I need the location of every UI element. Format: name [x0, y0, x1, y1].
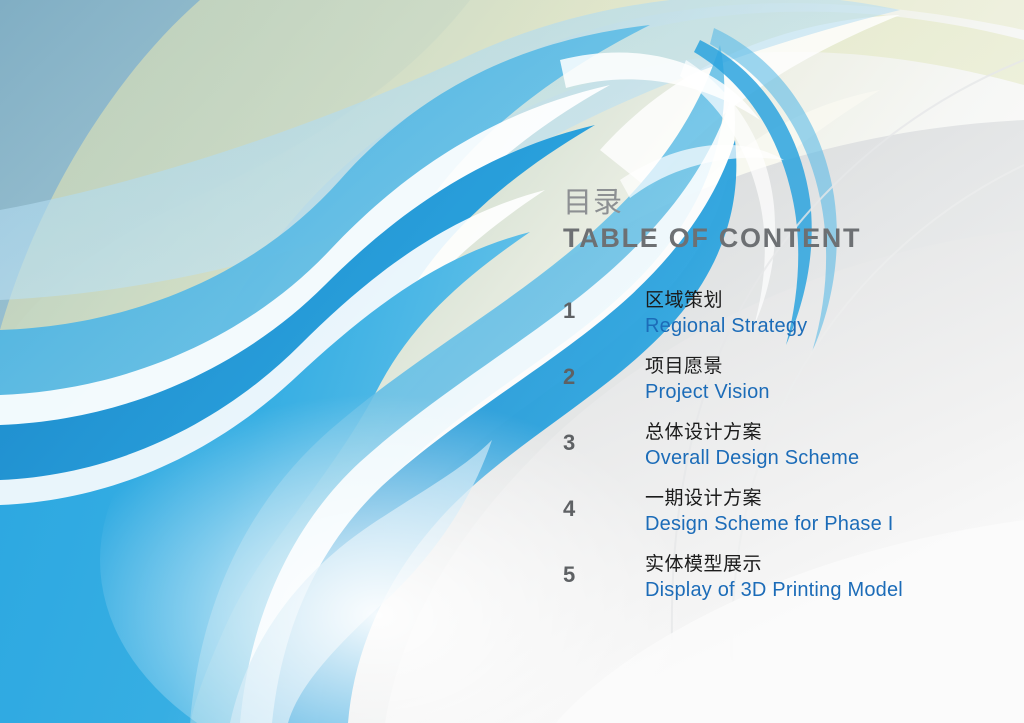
page-title-cn: 目录: [563, 186, 1003, 220]
toc-entry-labels: 总体设计方案 Overall Design Scheme: [645, 420, 859, 471]
toc-entry-5[interactable]: 5 实体模型展示 Display of 3D Printing Model: [563, 552, 1013, 618]
toc-title-cn: 项目愿景: [645, 354, 770, 379]
toc-title-en: Overall Design Scheme: [645, 445, 859, 471]
presentation-slide: 目录 TABLE OF CONTENT 1 区域策划 Regional Stra…: [0, 0, 1024, 723]
toc-list: 1 区域策划 Regional Strategy 2 项目愿景 Project …: [563, 288, 1013, 618]
toc-entry-2[interactable]: 2 项目愿景 Project Vision: [563, 354, 1013, 420]
toc-number: 5: [563, 562, 593, 588]
toc-entry-labels: 区域策划 Regional Strategy: [645, 288, 807, 339]
toc-number: 1: [563, 298, 593, 324]
toc-title-en: Regional Strategy: [645, 313, 807, 339]
toc-entry-3[interactable]: 3 总体设计方案 Overall Design Scheme: [563, 420, 1013, 486]
toc-heading-block: 目录 TABLE OF CONTENT: [563, 186, 1003, 255]
page-title-en: TABLE OF CONTENT: [563, 222, 1003, 255]
toc-entry-1[interactable]: 1 区域策划 Regional Strategy: [563, 288, 1013, 354]
toc-title-cn: 一期设计方案: [645, 486, 893, 511]
toc-entry-4[interactable]: 4 一期设计方案 Design Scheme for Phase I: [563, 486, 1013, 552]
toc-title-cn: 总体设计方案: [645, 420, 859, 445]
toc-title-en: Display of 3D Printing Model: [645, 577, 903, 603]
toc-title-en: Design Scheme for Phase I: [645, 511, 893, 537]
toc-entry-labels: 项目愿景 Project Vision: [645, 354, 770, 405]
toc-title-cn: 区域策划: [645, 288, 807, 313]
toc-number: 3: [563, 430, 593, 456]
toc-title-cn: 实体模型展示: [645, 552, 903, 577]
toc-number: 4: [563, 496, 593, 522]
toc-title-en: Project Vision: [645, 379, 770, 405]
toc-entry-labels: 一期设计方案 Design Scheme for Phase I: [645, 486, 893, 537]
toc-number: 2: [563, 364, 593, 390]
toc-entry-labels: 实体模型展示 Display of 3D Printing Model: [645, 552, 903, 603]
